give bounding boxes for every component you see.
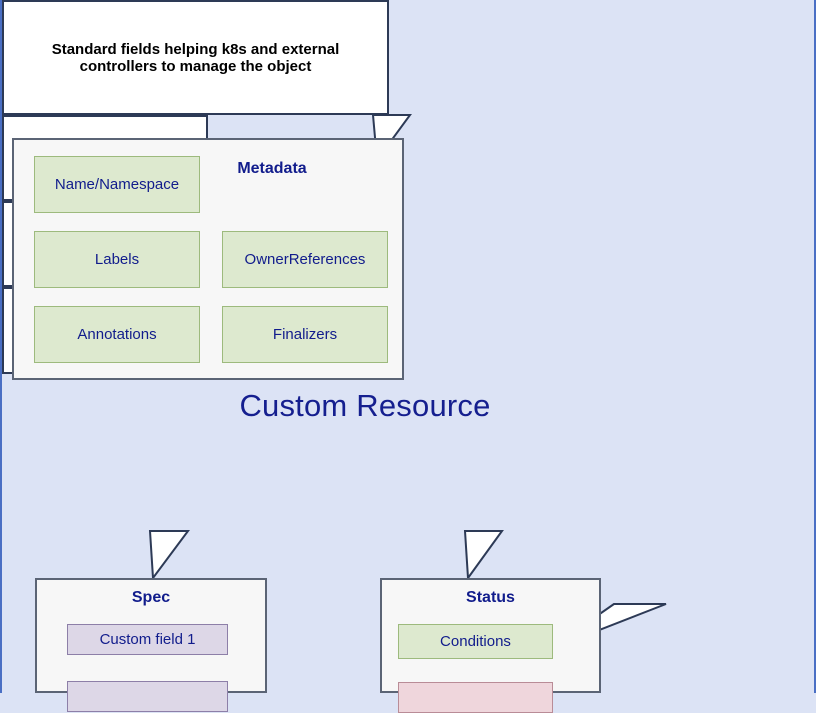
status-callout-tail: [465, 531, 502, 578]
status-field-extra[interactable]: [398, 682, 553, 713]
spec-callout-tail: [150, 531, 188, 578]
page-title: Custom Resource: [2, 388, 728, 424]
metadata-field-labels[interactable]: Labels: [34, 231, 200, 288]
metadata-field-finalizers[interactable]: Finalizers: [222, 306, 388, 363]
diagram-page: Metadata Name/Namespace Labels OwnerRefe…: [0, 0, 816, 693]
metadata-title: Metadata: [212, 160, 332, 178]
spec-title: Spec: [35, 589, 267, 607]
status-title: Status: [380, 589, 601, 607]
spec-field-custom-field-1[interactable]: Custom field 1: [67, 624, 228, 655]
metadata-field-ownerreferences[interactable]: OwnerReferences: [222, 231, 388, 288]
metadata-field-annotations[interactable]: Annotations: [34, 306, 200, 363]
metadata-field-name-namespace[interactable]: Name/Namespace: [34, 156, 200, 213]
spec-field-custom-field-2[interactable]: [67, 681, 228, 712]
status-field-conditions[interactable]: Conditions: [398, 624, 553, 659]
